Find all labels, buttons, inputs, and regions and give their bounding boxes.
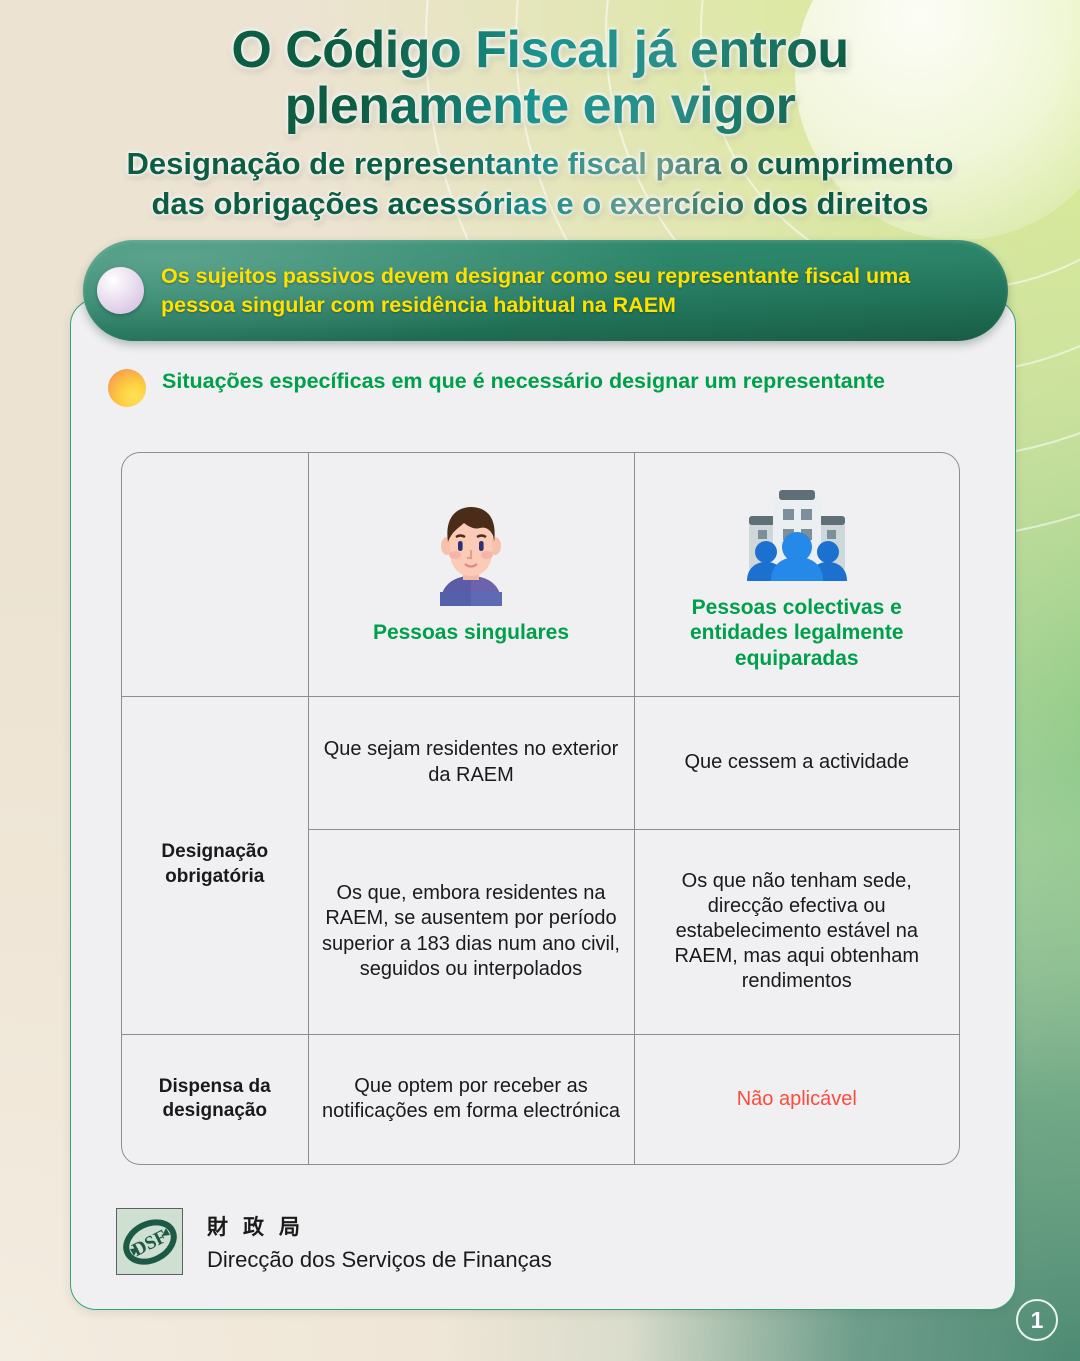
- page-number-badge: 1: [1016, 1299, 1058, 1341]
- cell-exemption-individual: Que optem por receber as notificações em…: [308, 1034, 634, 1164]
- table-header-individuals-label: Pessoas singulares: [321, 620, 622, 646]
- row-label-mandatory: Designação obrigatória: [122, 696, 308, 1034]
- page-subtitle-line-2: das obrigações acessórias e o exercício …: [28, 184, 1052, 224]
- table-header-row: Pessoas singulares: [122, 453, 959, 696]
- highlight-banner: Os sujeitos passivos devem designar como…: [83, 240, 1008, 341]
- not-applicable-text: Não aplicável: [737, 1088, 857, 1110]
- cell-mandatory-individual-2: Os que, embora residentes na RAEM, se au…: [308, 829, 634, 1034]
- table-row: Dispensa da designação Que optem por rec…: [122, 1034, 959, 1164]
- section-heading-text: Situações específicas em que é necessári…: [162, 368, 885, 396]
- footer-org-text: 財政局 Direcção dos Serviços de Finanças: [207, 1211, 552, 1273]
- table-header-entities: Pessoas colectivas e entidades legalment…: [634, 453, 959, 696]
- person-avatar-icon: [321, 502, 622, 606]
- header: O Código Fiscal já entrou plenamente em …: [0, 22, 1080, 224]
- footer-org-name-cn: 財政局: [207, 1211, 552, 1241]
- page-title-line-1: O Código Fiscal já entrou: [80, 22, 1000, 78]
- section-heading: Situações específicas em que é necessári…: [108, 368, 988, 407]
- representative-designation-table: Pessoas singulares: [122, 453, 959, 1164]
- cell-mandatory-entity-2: Os que não tenham sede, direcção efectiv…: [634, 829, 959, 1034]
- footer: DSF 財政局 Direcção dos Serviços de Finança…: [116, 1208, 552, 1275]
- page-title: O Código Fiscal já entrou plenamente em …: [0, 22, 1080, 134]
- highlight-banner-text: Os sujeitos passivos devem designar como…: [161, 262, 988, 318]
- table-header-individuals: Pessoas singulares: [308, 453, 634, 696]
- footer-org-name-pt: Direcção dos Serviços de Finanças: [207, 1247, 552, 1273]
- table-corner-cell: [122, 453, 308, 696]
- cell-mandatory-individual-1: Que sejam residentes no exterior da RAEM: [308, 696, 634, 829]
- company-building-people-icon: [647, 477, 948, 581]
- page-title-line-2: plenamente em vigor: [80, 78, 1000, 134]
- table-row: Designação obrigatória Que sejam residen…: [122, 696, 959, 829]
- dsf-logo-icon: DSF: [116, 1208, 183, 1275]
- table-header-entities-label: Pessoas colectivas e entidades legalment…: [647, 595, 948, 672]
- row-label-exemption: Dispensa da designação: [122, 1034, 308, 1164]
- lavender-sphere-bullet-icon: [97, 267, 144, 314]
- page-subtitle-line-1: Designação de representante fiscal para …: [28, 144, 1052, 184]
- orange-sphere-bullet-icon: [108, 369, 146, 407]
- cell-exemption-entity: Não aplicável: [634, 1034, 959, 1164]
- cell-mandatory-entity-1: Que cessem a actividade: [634, 696, 959, 829]
- page-subtitle: Designação de representante fiscal para …: [0, 144, 1080, 223]
